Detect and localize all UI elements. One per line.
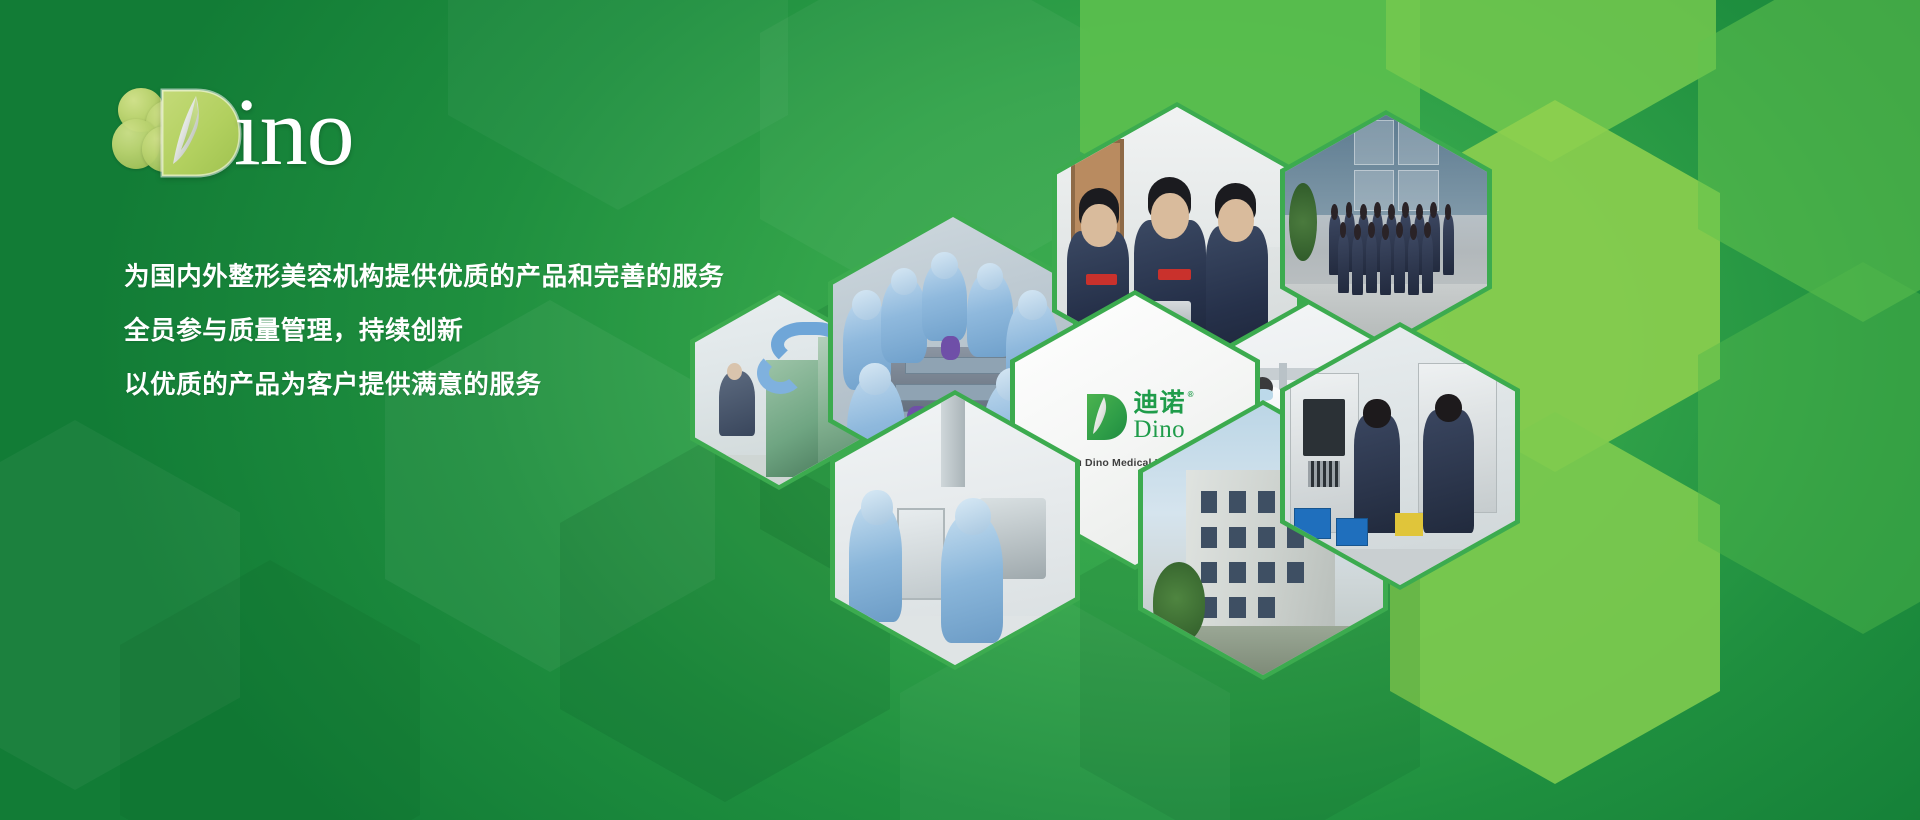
- slogan-line-3: 以优质的产品为客户提供满意的服务: [124, 372, 724, 398]
- leaf-d-icon: [156, 88, 242, 178]
- photo-hexagon-cluster: 迪诺 ® Dino Hangzhou Dino Medical Instrume…: [660, 100, 1460, 620]
- background-hexagon-13: [1698, 262, 1920, 634]
- registered-trademark-icon: ®: [1188, 391, 1195, 399]
- dino-logo-english: Dino: [1133, 417, 1185, 442]
- hero-text-block: ino 为国内外整形美容机构提供优质的产品和完善的服务 全员参与质量管理，持续创…: [112, 66, 724, 398]
- slogan-line-2: 全员参与质量管理，持续创新: [124, 318, 724, 344]
- background-hexagon-1: [0, 420, 240, 790]
- background-hexagon-2: [120, 560, 420, 820]
- dino-corporate-mark: 迪诺 ® Dino: [1084, 391, 1185, 442]
- dino-company-banner: ino 为国内外整形美容机构提供优质的产品和完善的服务 全员参与质量管理，持续创…: [0, 0, 1920, 820]
- leaf-d-icon-small: [1084, 393, 1128, 441]
- dino-logo-chinese: 迪诺 ®: [1133, 391, 1185, 416]
- dino-logo: ino: [112, 66, 442, 178]
- dino-mark-text: 迪诺 ® Dino: [1133, 391, 1185, 442]
- background-hexagon-12: [1698, 0, 1920, 322]
- logo-wordmark: ino: [234, 84, 354, 180]
- slogan-list: 为国内外整形美容机构提供优质的产品和完善的服务 全员参与质量管理，持续创新 以优…: [124, 264, 724, 398]
- dino-logo-chinese-text: 迪诺: [1133, 389, 1185, 417]
- slogan-line-1: 为国内外整形美容机构提供优质的产品和完善的服务: [124, 264, 724, 290]
